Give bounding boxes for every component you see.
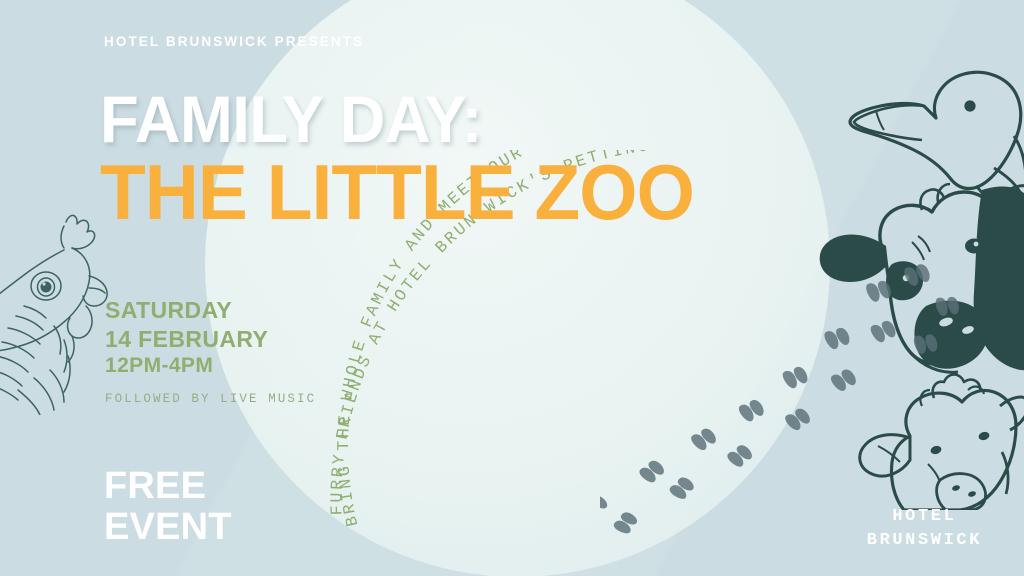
kicker-text: HOTEL BRUNSWICK PRESENTS <box>104 34 364 49</box>
event-date-block: SATURDAY 14 FEBRUARY 12PM-4PM <box>105 296 268 379</box>
chicken-head-icon <box>0 210 114 415</box>
title-line-1: FAMILY DAY: <box>100 88 849 151</box>
free-event-line-1: FREE <box>104 466 232 507</box>
followed-by-note: FOLLOWED BY LIVE MUSIC <box>105 392 316 406</box>
event-day: SATURDAY <box>105 296 268 325</box>
hotel-brunswick-logo: HOTEL BRUNSWICK <box>867 505 982 554</box>
logo-line-2: BRUNSWICK <box>867 529 982 554</box>
free-event-block: FREE EVENT <box>104 466 232 548</box>
title-line-2: THE LITTLE ZOO <box>100 153 849 231</box>
goat-head-icon <box>860 375 1024 511</box>
logo-line-1: HOTEL <box>867 505 982 530</box>
event-time: 12PM-4PM <box>105 353 268 379</box>
event-date: 14 FEBRUARY <box>105 325 268 354</box>
title-block: FAMILY DAY: THE LITTLE ZOO <box>100 88 880 231</box>
poster-canvas: BRING THE WHOLE FAMILY AND MEET OUR FURR… <box>0 0 1024 576</box>
free-event-line-2: EVENT <box>104 507 232 548</box>
